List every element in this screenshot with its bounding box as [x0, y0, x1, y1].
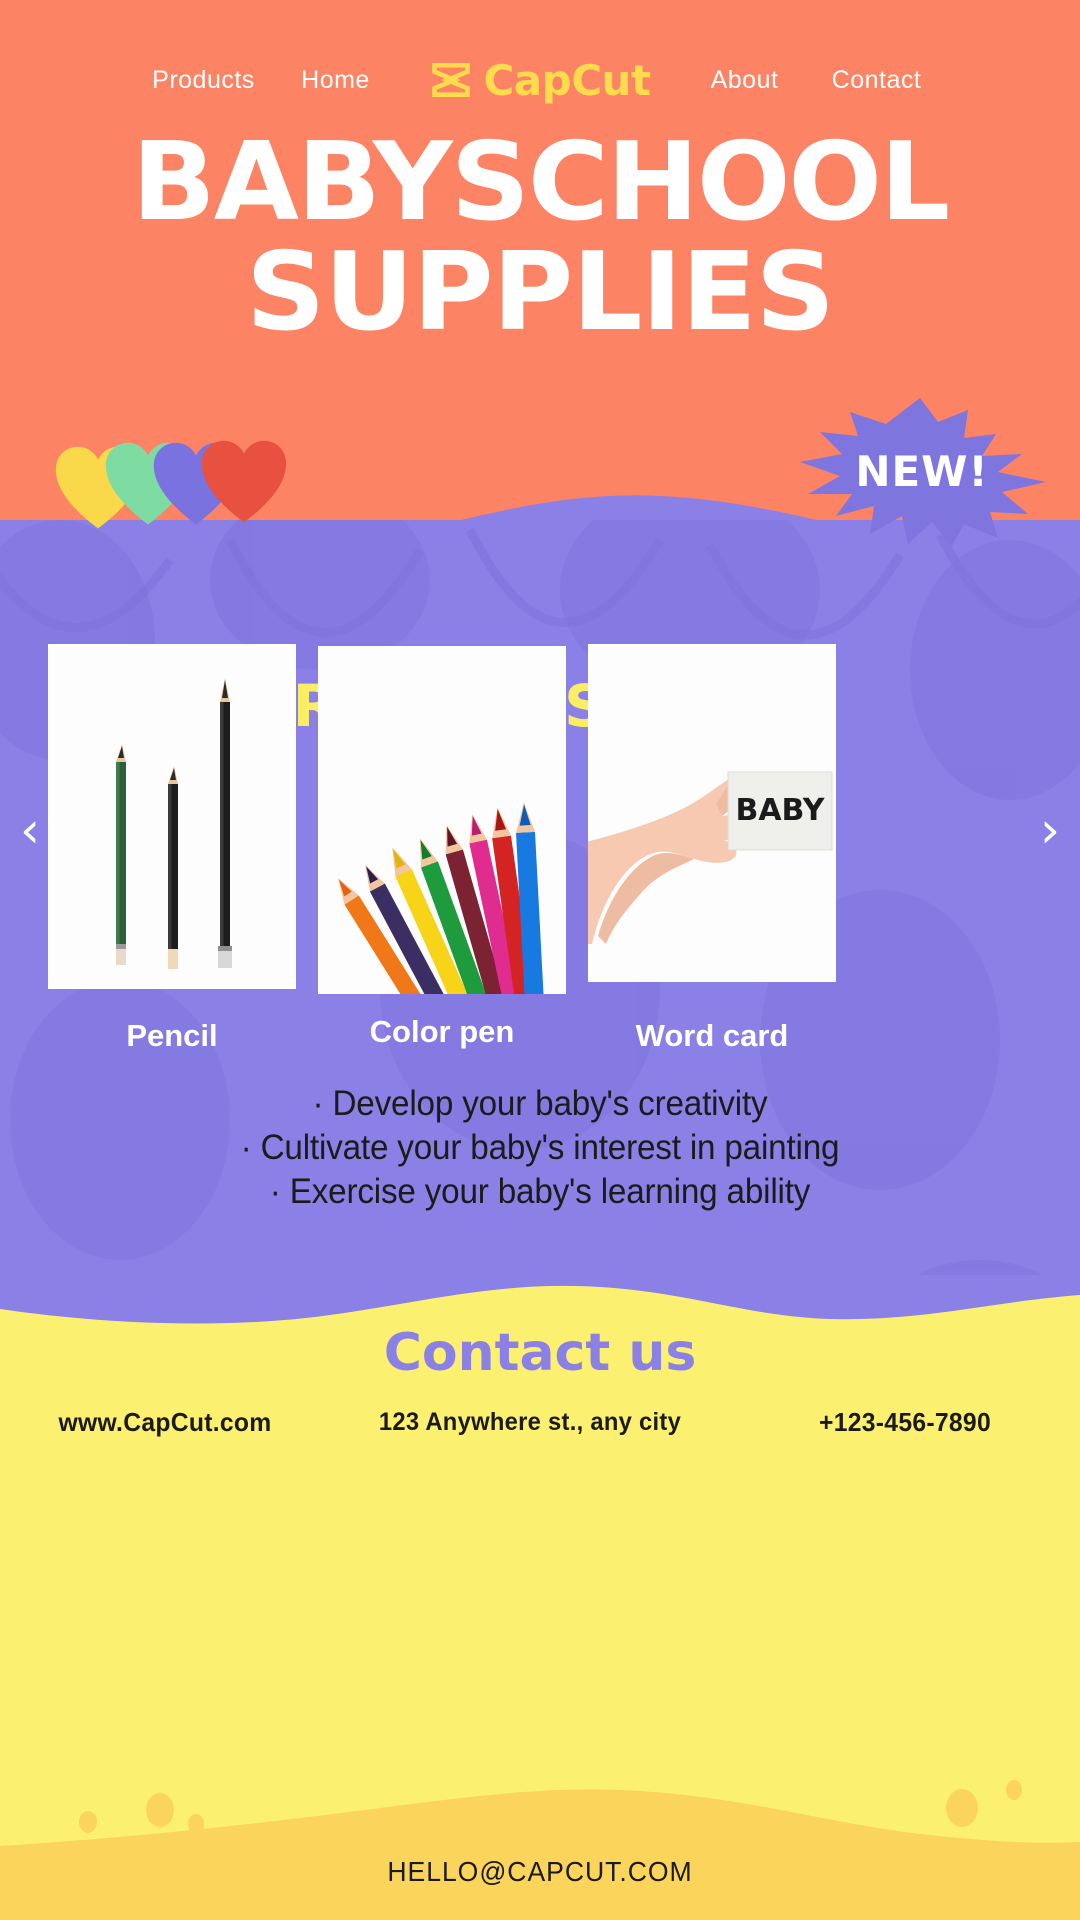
benefit-item: · Develop your baby's creativity [27, 1082, 1053, 1126]
nav-label: Contact [832, 66, 922, 94]
product-label-color-pen: Color pen [318, 1008, 566, 1058]
contact-phone[interactable]: +123-456-7890 [739, 1407, 1072, 1438]
nav-item-products[interactable]: Products [137, 66, 269, 95]
poster-page: Products Home CapCut About Contact BABYS… [0, 0, 1080, 1920]
hero-title: BABYSCHOOL SUPPLIES [0, 128, 1080, 348]
carousel-prev-button[interactable]: ‹ [8, 800, 52, 860]
contact-title: Contact us [0, 1323, 1080, 1383]
pencils-photo [48, 644, 296, 989]
product-label-pencil: Pencil [48, 1008, 296, 1058]
nav-item-about[interactable]: About [679, 66, 811, 95]
contact-details-row: www.CapCut.com 123 Anywhere st., any cit… [0, 1402, 1080, 1442]
main-navigation: Products Home CapCut About Contact [0, 50, 1080, 110]
product-labels: Pencil Color pen Word card [48, 1008, 1032, 1058]
nav-item-home[interactable]: Home [269, 66, 401, 95]
hero-title-line-1: BABYSCHOOL [0, 128, 1080, 238]
nav-label: Home [301, 66, 370, 94]
capcut-logo-icon [429, 58, 473, 102]
nav-label: About [711, 66, 779, 94]
product-card-color-pen[interactable] [318, 646, 566, 994]
hero-title-line-2: SUPPLIES [0, 238, 1080, 348]
product-card-pencil[interactable] [48, 644, 296, 989]
product-label-word-card: Word card [588, 1008, 836, 1058]
heart-red-icon [198, 438, 290, 526]
product-carousel: BABY [48, 644, 1032, 994]
word-card-text: BABY [735, 793, 825, 828]
benefits-list: · Develop your baby's creativity · Culti… [0, 1082, 1080, 1213]
hand-holding-baby-word-card-photo: BABY [588, 644, 836, 982]
chevron-right-icon: › [1040, 805, 1060, 855]
capcut-logo[interactable]: CapCut [429, 56, 650, 105]
new-badge-label: NEW! [792, 396, 1052, 546]
benefit-item: · Cultivate your baby's interest in pain… [27, 1126, 1053, 1170]
contact-website[interactable]: www.CapCut.com [8, 1407, 322, 1438]
footer-gold-wave [0, 1760, 1080, 1920]
contact-email[interactable]: HELLO@CAPCUT.COM [27, 1856, 1053, 1888]
nav-label: Products [152, 66, 255, 94]
new-badge: NEW! [792, 396, 1052, 546]
chevron-left-icon: ‹ [20, 805, 40, 855]
product-card-word-card[interactable]: BABY [588, 644, 836, 982]
colored-pencils-photo [318, 646, 566, 994]
capcut-logo-text: CapCut [483, 56, 650, 105]
carousel-next-button[interactable]: › [1028, 800, 1072, 860]
benefit-item: · Exercise your baby's learning ability [27, 1170, 1053, 1214]
nav-item-contact[interactable]: Contact [811, 66, 943, 95]
contact-address: 123 Anywhere st., any city [340, 1408, 720, 1437]
heart-group [52, 440, 312, 540]
